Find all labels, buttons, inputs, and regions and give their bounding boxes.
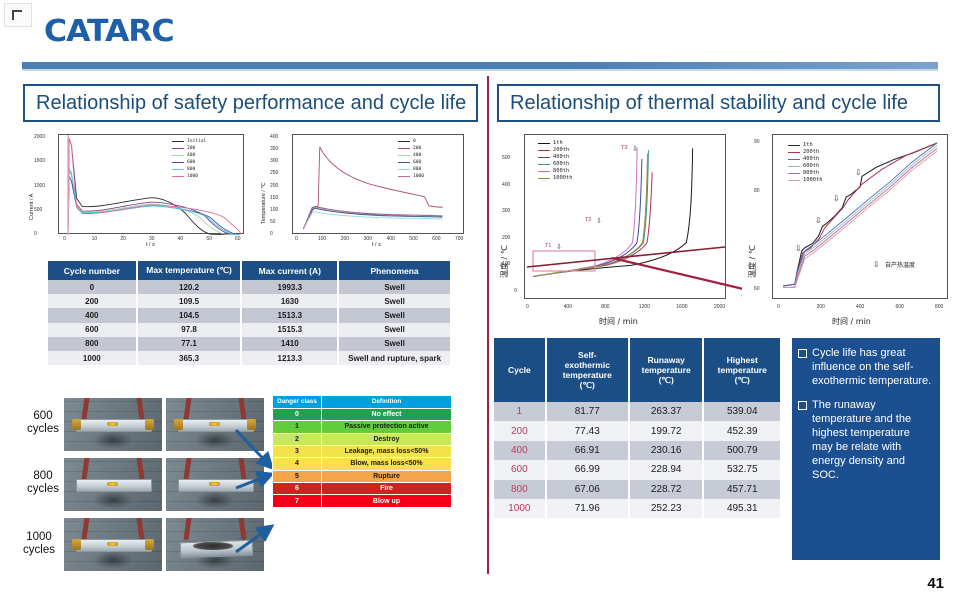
danger-header-row: Danger classDefinition bbox=[273, 396, 452, 409]
legend-label: 600 bbox=[187, 159, 195, 166]
ytick-400: 400 bbox=[502, 182, 510, 188]
legend-swatch bbox=[538, 178, 550, 180]
danger-class-cell: 5 bbox=[273, 470, 322, 482]
legend-label: 0 bbox=[413, 138, 416, 145]
ytick-400: 400 bbox=[270, 134, 278, 140]
table-cell: 66.99 bbox=[546, 460, 629, 479]
legend-item: 200th bbox=[788, 149, 822, 156]
legend-label: 600th bbox=[803, 163, 819, 170]
danger-definition-cell: Leakage, mass loss<50% bbox=[322, 445, 452, 457]
header-line: Highest bbox=[727, 355, 758, 365]
legend-label: 1000 bbox=[413, 173, 424, 180]
column-header: Phenomena bbox=[338, 261, 451, 280]
photo-row-label-1000: 1000 cycles bbox=[14, 531, 64, 557]
legend-label: Initial bbox=[187, 138, 206, 145]
legend-label: 1000th bbox=[553, 175, 572, 182]
xtick-200: 200 bbox=[817, 304, 825, 310]
chart-temp-plot bbox=[292, 134, 464, 234]
table-cell: 97.8 bbox=[137, 323, 242, 337]
svg-text:⇩: ⇩ bbox=[556, 243, 562, 251]
cycle-cell: 600 bbox=[494, 460, 546, 479]
legend-label: 200 bbox=[187, 145, 195, 152]
legend-swatch bbox=[172, 141, 184, 143]
xtick-0: 0 bbox=[63, 236, 66, 242]
header-line: Cycle bbox=[508, 365, 531, 375]
legend-item: 1000 bbox=[172, 173, 206, 180]
bullet-text: Cycle life has great influence on the se… bbox=[812, 346, 933, 388]
legend-label: 1th bbox=[553, 140, 563, 147]
table-cell: 66.91 bbox=[546, 441, 629, 460]
table-row: 5Rupture bbox=[273, 470, 452, 482]
xtick-1600: 1600 bbox=[676, 304, 687, 310]
chart-temp-ylabel: Temperature / ℃ bbox=[261, 182, 267, 224]
legend-swatch bbox=[398, 141, 410, 143]
header-line: (℃) bbox=[659, 375, 674, 385]
xtick-600: 600 bbox=[432, 236, 440, 242]
table-row: 0No effect bbox=[273, 408, 452, 420]
legend-swatch bbox=[788, 152, 800, 154]
catarc-logo: CATARC bbox=[44, 14, 174, 49]
legend-swatch bbox=[398, 176, 410, 178]
ytick-80: 80 bbox=[754, 188, 760, 194]
chart-thermal-runaway-zoom: 温度 / ℃ ⇩ ⇩ ⇩ ⇩ ⇩ 自产热温度 608090 0200400600… bbox=[742, 128, 958, 333]
xtick-50: 50 bbox=[206, 236, 212, 242]
danger-definition-cell: No effect bbox=[322, 408, 452, 420]
xtick-400: 400 bbox=[564, 304, 572, 310]
legend-label: 1th bbox=[803, 142, 813, 149]
legend-item: 1th bbox=[788, 142, 822, 149]
table-cell: 199.72 bbox=[629, 421, 704, 440]
legend-swatch bbox=[172, 148, 184, 150]
legend-item: 400th bbox=[538, 154, 572, 161]
legend-item: 600 bbox=[172, 159, 206, 166]
thermal-stability-table: CycleSelf-exothermictemperature(℃)Runawa… bbox=[494, 338, 782, 518]
table-cell: 109.5 bbox=[137, 294, 242, 308]
legend-swatch bbox=[172, 155, 184, 157]
legend-swatch bbox=[788, 166, 800, 168]
table-cell: 495.31 bbox=[703, 499, 781, 518]
table-cell: Swell bbox=[338, 323, 451, 337]
svg-text:⇩: ⇩ bbox=[855, 168, 862, 177]
svg-text:⇩: ⇩ bbox=[873, 260, 880, 269]
conclusion-bullets: Cycle life has great influence on the se… bbox=[792, 338, 940, 560]
ytick-2000: 2000 bbox=[34, 134, 45, 140]
slide-root: CATARC Relationship of safety performanc… bbox=[0, 0, 960, 600]
table-cell: 365.3 bbox=[137, 351, 242, 365]
legend-swatch bbox=[398, 155, 410, 157]
table-cell: 800 bbox=[48, 337, 137, 351]
legend-item: 1000 bbox=[398, 173, 424, 180]
header-rule-secondary bbox=[22, 69, 938, 71]
danger-definition-cell: Blow, mass loss<50% bbox=[322, 458, 452, 470]
legend-item: 600 bbox=[398, 159, 424, 166]
ytick-250: 250 bbox=[270, 170, 278, 176]
legend-item: 400 bbox=[172, 152, 206, 159]
legend-swatch bbox=[538, 164, 550, 166]
legend-label: 400 bbox=[413, 152, 421, 159]
danger-definition-cell: Passive protection active bbox=[322, 421, 452, 433]
xtick-400: 400 bbox=[386, 236, 394, 242]
table-cell: 457.71 bbox=[703, 480, 781, 499]
table-row: 60066.99228.94532.75 bbox=[494, 460, 781, 479]
xtick-0: 0 bbox=[295, 236, 298, 242]
chart-temp-xlabel: t / s bbox=[372, 242, 381, 248]
header-line: (℃) bbox=[580, 380, 595, 390]
bullet-square-icon bbox=[798, 401, 807, 410]
chart-current-legend: Initial2004006008001000 bbox=[172, 138, 206, 180]
legend-label: 400th bbox=[553, 154, 569, 161]
table-cell: 1993.3 bbox=[241, 280, 338, 294]
legend-swatch bbox=[788, 159, 800, 161]
legend-item: 200 bbox=[398, 145, 424, 152]
chart-current-plot bbox=[58, 134, 244, 234]
xtick-10: 10 bbox=[92, 236, 98, 242]
xtick-60: 60 bbox=[235, 236, 241, 242]
chart-zoom-xlabel: 时间 / min bbox=[832, 316, 871, 327]
column-header: Max current (A) bbox=[241, 261, 338, 280]
header-line: Runaway bbox=[648, 355, 685, 365]
photo-1000-right bbox=[166, 518, 264, 571]
column-header: Definition bbox=[322, 396, 452, 409]
bullet-text: The runaway temperature and the highest … bbox=[812, 398, 933, 482]
svg-text:T3: T3 bbox=[621, 145, 627, 151]
legend-swatch bbox=[398, 148, 410, 150]
table-cell: 1213.3 bbox=[241, 351, 338, 365]
legend-item: 200th bbox=[538, 147, 572, 154]
table-row: 60097.81515.3Swell bbox=[48, 323, 451, 337]
photo-600-right bbox=[166, 398, 264, 451]
danger-class-table: Danger classDefinition 0No effect1Passiv… bbox=[272, 395, 452, 508]
legend-label: 200th bbox=[553, 147, 569, 154]
bullet-item: Cycle life has great influence on the se… bbox=[798, 346, 933, 388]
legend-swatch bbox=[538, 150, 550, 152]
table-cell: 77.43 bbox=[546, 421, 629, 440]
table-cell: 77.1 bbox=[137, 337, 242, 351]
column-header: Cycle bbox=[494, 338, 546, 402]
legend-label: 400 bbox=[187, 152, 195, 159]
table-cell: 532.75 bbox=[703, 460, 781, 479]
legend-label: 1000 bbox=[187, 173, 198, 180]
photo-label-1000-number: 1000 bbox=[26, 531, 52, 543]
legend-swatch bbox=[398, 169, 410, 171]
header-line: (℃) bbox=[735, 375, 750, 385]
table-row: 0120.21993.3Swell bbox=[48, 280, 451, 294]
table-cell: 71.96 bbox=[546, 499, 629, 518]
table-row: 7Blow up bbox=[273, 495, 452, 507]
ytick-50: 50 bbox=[270, 219, 276, 225]
danger-class-cell: 3 bbox=[273, 445, 322, 457]
danger-definition-cell: Blow up bbox=[322, 495, 452, 507]
xtick-200: 200 bbox=[341, 236, 349, 242]
table-row: 20077.43199.72452.39 bbox=[494, 421, 781, 440]
danger-class-cell: 1 bbox=[273, 421, 322, 433]
chart-runaway-legend: 1th200th400th600th800th1000th bbox=[538, 140, 572, 182]
ytick-0: 0 bbox=[270, 231, 273, 237]
ytick-200: 200 bbox=[502, 235, 510, 241]
column-header: Cycle number bbox=[48, 261, 137, 280]
legend-item: 800th bbox=[788, 170, 822, 177]
column-header: Highesttemperature(℃) bbox=[703, 338, 781, 402]
svg-text:⇩: ⇩ bbox=[815, 216, 822, 225]
table-cell: 500.79 bbox=[703, 441, 781, 460]
table-row: 3Leakage, mass loss<50% bbox=[273, 445, 452, 457]
photo-label-800-unit: cycles bbox=[27, 483, 59, 495]
table-cell: Swell bbox=[338, 308, 451, 322]
table-cell: 1630 bbox=[241, 294, 338, 308]
legend-swatch bbox=[538, 157, 550, 159]
chart-temperature-vs-time: Temperature / ℃ 050100150200250300350400… bbox=[258, 128, 470, 253]
chart-thermal-runaway-main: 温度 / ℃ T1 T2 T3 ⇩ ⇩ ⇩ 1002003004005000 0… bbox=[494, 128, 736, 333]
left-panel-title: Relationship of safety performance and c… bbox=[23, 84, 478, 122]
ytick-300: 300 bbox=[270, 158, 278, 164]
legend-swatch bbox=[788, 180, 800, 182]
header-line: temperature bbox=[563, 370, 612, 380]
table-cell: Swell and rupture, spark bbox=[338, 351, 451, 365]
xtick-700: 700 bbox=[455, 236, 463, 242]
table-row: 6Fire bbox=[273, 483, 452, 495]
photo-800-right bbox=[166, 458, 264, 511]
photo-1000-left bbox=[64, 518, 162, 571]
legend-item: 400th bbox=[788, 156, 822, 163]
chart-current-vs-time: Current / A 0500100015002000 01020304050… bbox=[24, 128, 252, 253]
table-cell: 228.72 bbox=[629, 480, 704, 499]
legend-item: 600th bbox=[788, 163, 822, 170]
table-cell: Swell bbox=[338, 337, 451, 351]
ytick-1000: 1000 bbox=[34, 183, 45, 189]
table-row: 80067.06228.72457.71 bbox=[494, 480, 781, 499]
legend-item: Initial bbox=[172, 138, 206, 145]
svg-text:⇩: ⇩ bbox=[632, 145, 638, 153]
svg-text:⇩: ⇩ bbox=[795, 244, 802, 253]
panel-divider bbox=[487, 76, 489, 574]
table-cell: Swell bbox=[338, 280, 451, 294]
table-cell: 228.94 bbox=[629, 460, 704, 479]
photo-600-left bbox=[64, 398, 162, 451]
danger-class-cell: 7 bbox=[273, 495, 322, 507]
table-cell: 120.2 bbox=[137, 280, 242, 294]
legend-label: 200th bbox=[803, 149, 819, 156]
thermal-header-row: CycleSelf-exothermictemperature(℃)Runawa… bbox=[494, 338, 781, 402]
legend-swatch bbox=[538, 143, 550, 145]
ytick-100: 100 bbox=[270, 207, 278, 213]
table-cell: 452.39 bbox=[703, 421, 781, 440]
legend-item: 0 bbox=[398, 138, 424, 145]
cycle-number-table: Cycle numberMax temperature (℃)Max curre… bbox=[48, 261, 452, 365]
cycle-cell: 400 bbox=[494, 441, 546, 460]
ytick-60: 60 bbox=[754, 286, 760, 292]
ytick-500: 500 bbox=[34, 207, 42, 213]
xtick-0: 0 bbox=[777, 304, 780, 310]
ytick-500: 500 bbox=[502, 155, 510, 161]
photo-label-600-unit: cycles bbox=[27, 423, 59, 435]
svg-text:⇩: ⇩ bbox=[596, 217, 602, 225]
bullet-item: The runaway temperature and the highest … bbox=[798, 398, 933, 482]
header-line: exothermic bbox=[565, 360, 610, 370]
table-row: 1Passive protection active bbox=[273, 421, 452, 433]
photo-row-label-800: 800 cycles bbox=[18, 470, 68, 496]
series-line bbox=[68, 138, 241, 235]
series-line bbox=[68, 170, 240, 235]
photo-label-800-number: 800 bbox=[33, 470, 52, 482]
legend-label: 600 bbox=[413, 159, 421, 166]
xtick-1200: 1200 bbox=[639, 304, 650, 310]
cycle-cell: 800 bbox=[494, 480, 546, 499]
xtick-2000: 2000 bbox=[714, 304, 725, 310]
danger-definition-cell: Fire bbox=[322, 483, 452, 495]
table-cell: 263.37 bbox=[629, 402, 704, 421]
xtick-20: 20 bbox=[120, 236, 126, 242]
legend-swatch bbox=[398, 162, 410, 164]
svg-text:T2: T2 bbox=[585, 217, 591, 223]
xtick-800: 800 bbox=[935, 304, 943, 310]
danger-class-cell: 2 bbox=[273, 433, 322, 445]
header-line: temperature bbox=[642, 365, 691, 375]
table-cell: 200 bbox=[48, 294, 137, 308]
table-row: 200109.51630Swell bbox=[48, 294, 451, 308]
danger-definition-cell: Destroy bbox=[322, 433, 452, 445]
ytick-150: 150 bbox=[270, 195, 278, 201]
cycle-cell: 200 bbox=[494, 421, 546, 440]
xtick-800: 800 bbox=[601, 304, 609, 310]
legend-label: 400th bbox=[803, 156, 819, 163]
table-cell: 252.23 bbox=[629, 499, 704, 518]
legend-item: 800th bbox=[538, 168, 572, 175]
legend-swatch bbox=[538, 171, 550, 173]
table-cell: 1410 bbox=[241, 337, 338, 351]
chart-current-xlabel: t / s bbox=[146, 242, 155, 248]
legend-label: 800th bbox=[553, 168, 569, 175]
xtick-100: 100 bbox=[318, 236, 326, 242]
ytick-200: 200 bbox=[270, 183, 278, 189]
legend-item: 600th bbox=[538, 161, 572, 168]
page-number: 41 bbox=[927, 575, 944, 592]
legend-swatch bbox=[788, 173, 800, 175]
danger-class-cell: 4 bbox=[273, 458, 322, 470]
table-row: 100071.96252.23495.31 bbox=[494, 499, 781, 518]
legend-label: 800 bbox=[413, 166, 421, 173]
table-cell: 0 bbox=[48, 280, 137, 294]
table-cell: 539.04 bbox=[703, 402, 781, 421]
legend-swatch bbox=[172, 162, 184, 164]
table-cell: 1515.3 bbox=[241, 323, 338, 337]
column-header: Self-exothermictemperature(℃) bbox=[546, 338, 629, 402]
ytick-100: 100 bbox=[502, 261, 510, 267]
ytick-90: 90 bbox=[754, 139, 760, 145]
chart-runaway-xlabel: 时间 / min bbox=[599, 316, 638, 327]
header-rule bbox=[22, 62, 938, 69]
table-header-row: Cycle numberMax temperature (℃)Max curre… bbox=[48, 261, 451, 280]
bullet-square-icon bbox=[798, 349, 807, 358]
danger-class-cell: 6 bbox=[273, 483, 322, 495]
chart-temp-legend: 02004006008001000 bbox=[398, 138, 424, 180]
legend-item: 200 bbox=[172, 145, 206, 152]
ytick-1500: 1500 bbox=[34, 158, 45, 164]
legend-label: 600th bbox=[553, 161, 569, 168]
right-panel-title: Relationship of thermal stability and cy… bbox=[497, 84, 940, 122]
xtick-400: 400 bbox=[856, 304, 864, 310]
xtick-0: 0 bbox=[526, 304, 529, 310]
header-line: temperature bbox=[718, 365, 767, 375]
xtick-500: 500 bbox=[409, 236, 417, 242]
table-row: 80077.11410Swell bbox=[48, 337, 451, 351]
chart-zoom-legend: 1th200th400th600th800th1000th bbox=[788, 142, 822, 184]
legend-swatch bbox=[788, 145, 800, 147]
table-cell: 81.77 bbox=[546, 402, 629, 421]
table-cell: 1000 bbox=[48, 351, 137, 365]
table-row: 400104.51513.3Swell bbox=[48, 308, 451, 322]
legend-item: 800 bbox=[172, 166, 206, 173]
photo-800-left bbox=[64, 458, 162, 511]
xtick-300: 300 bbox=[364, 236, 372, 242]
header-line: Self- bbox=[578, 350, 596, 360]
table-cell: 67.06 bbox=[546, 480, 629, 499]
legend-item: 1000th bbox=[788, 177, 822, 184]
photo-row-label-600: 600 cycles bbox=[18, 410, 68, 436]
danger-class-cell: 0 bbox=[273, 408, 322, 420]
photo-label-600-number: 600 bbox=[33, 410, 52, 422]
ytick-0: 0 bbox=[514, 288, 517, 294]
legend-swatch bbox=[172, 176, 184, 178]
legend-item: 1000th bbox=[538, 175, 572, 182]
xtick-40: 40 bbox=[178, 236, 184, 242]
table-cell: 600 bbox=[48, 323, 137, 337]
column-header: Runawaytemperature(℃) bbox=[629, 338, 704, 402]
legend-swatch bbox=[172, 169, 184, 171]
legend-item: 1th bbox=[538, 140, 572, 147]
table-cell: 1513.3 bbox=[241, 308, 338, 322]
column-header: Max temperature (℃) bbox=[137, 261, 242, 280]
table-row: 181.77263.37539.04 bbox=[494, 402, 781, 421]
xtick-600: 600 bbox=[896, 304, 904, 310]
legend-label: 200 bbox=[413, 145, 421, 152]
column-header: Danger class bbox=[273, 396, 322, 409]
table-cell: Swell bbox=[338, 294, 451, 308]
svg-text:自产热温度: 自产热温度 bbox=[885, 261, 915, 269]
legend-item: 800 bbox=[398, 166, 424, 173]
legend-label: 800 bbox=[187, 166, 195, 173]
table-cell: 230.16 bbox=[629, 441, 704, 460]
chart-zoom-ylabel: 温度 / ℃ bbox=[747, 245, 758, 278]
svg-text:⇩: ⇩ bbox=[833, 194, 840, 203]
legend-label: 1000th bbox=[803, 177, 822, 184]
ytick-300: 300 bbox=[502, 208, 510, 214]
cycle-cell: 1000 bbox=[494, 499, 546, 518]
table-row: 4Blow, mass loss<50% bbox=[273, 458, 452, 470]
table-cell: 104.5 bbox=[137, 308, 242, 322]
corner-mark-icon bbox=[4, 3, 32, 27]
legend-item: 400 bbox=[398, 152, 424, 159]
ytick-350: 350 bbox=[270, 146, 278, 152]
table-row: 1000365.31213.3Swell and rupture, spark bbox=[48, 351, 451, 365]
photo-label-1000-unit: cycles bbox=[23, 544, 55, 556]
danger-definition-cell: Rupture bbox=[322, 470, 452, 482]
table-row: 2Destroy bbox=[273, 433, 452, 445]
ytick-0: 0 bbox=[34, 231, 37, 237]
table-cell: 400 bbox=[48, 308, 137, 322]
cycle-cell: 1 bbox=[494, 402, 546, 421]
svg-text:T1: T1 bbox=[545, 243, 551, 249]
legend-label: 800th bbox=[803, 170, 819, 177]
table-row: 40066.91230.16500.79 bbox=[494, 441, 781, 460]
